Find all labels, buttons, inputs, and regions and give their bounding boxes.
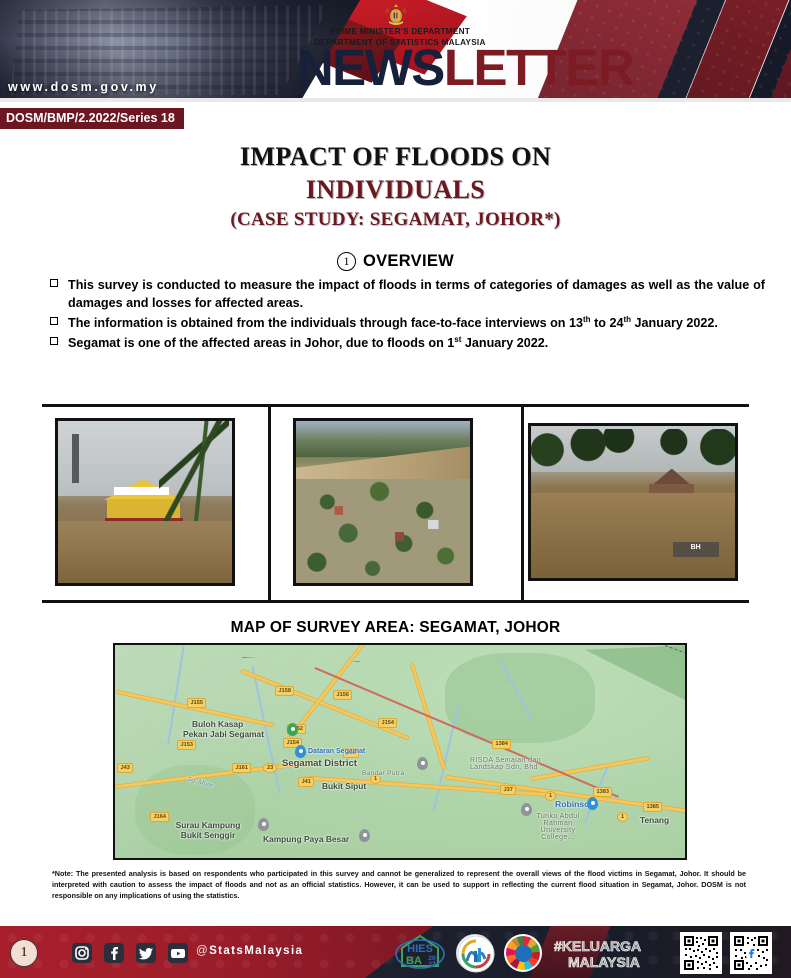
sdg-wheel-logo	[504, 934, 542, 972]
map-place-label: Dataran Segamat	[308, 748, 365, 755]
photo2-rooftops	[296, 486, 470, 580]
bullet-ordinal-2: th	[623, 315, 631, 324]
map-road-shield: 1383	[593, 787, 612, 797]
map-pin-icon[interactable]	[521, 803, 532, 816]
newsletter-wordmark: NEWSLETTER	[230, 42, 700, 93]
map-place-label: Tenang	[640, 815, 669, 825]
dosm-logo	[456, 934, 494, 972]
newsletter-word-news: NEWS	[297, 39, 444, 96]
facebook-icon[interactable]	[104, 943, 124, 963]
list-item: This survey is conducted to measure the …	[50, 276, 765, 312]
svg-text:BA: BA	[406, 955, 422, 967]
bullet-text: The information is obtained from the ind…	[68, 314, 765, 332]
overview-heading: 1 OVERVIEW	[0, 252, 791, 271]
map-place-label: Bandar Putra	[362, 770, 404, 777]
map-pin-icon[interactable]	[258, 818, 269, 831]
map-road-shield: J161	[232, 763, 251, 773]
map-pin-icon[interactable]	[417, 757, 428, 770]
flooded-stilt-house-photo	[55, 418, 235, 586]
newsletter-page: www.dosm.gov.my PRIME MINISTER'S DEPARTM…	[0, 0, 791, 978]
map-place-label: Surau Kampung Bukit Senggir	[172, 820, 244, 840]
photo1-floodwater	[58, 521, 232, 583]
bullet-text: Segamat is one of the affected areas in …	[68, 334, 765, 352]
photo-strip-top-rule	[42, 404, 749, 407]
photo1-pole	[72, 434, 79, 483]
map-road-shield: 1384	[492, 739, 511, 749]
malaysia-coat-of-arms-icon	[383, 3, 409, 27]
flooded-house-palms-photo: BH	[528, 423, 738, 581]
map-place-label: Buloh Kasap	[192, 719, 243, 729]
checkbox-bullet-icon	[50, 314, 68, 332]
list-item: Segamat is one of the affected areas in …	[50, 334, 765, 352]
map-road-shield: J43	[117, 763, 133, 773]
map-road-shield: J156	[333, 690, 352, 700]
section-number-badge: 1	[337, 252, 356, 271]
sdg-center	[515, 945, 532, 962]
photo-strip-bottom-rule	[42, 600, 749, 603]
bullet-text-mid: to 24	[591, 316, 624, 330]
keluarga-malaysia-logo: #KELUARGA MALAYSIA	[552, 936, 670, 970]
map-place-label-segamat-district: Segamat District	[282, 758, 357, 769]
overview-bullet-list: This survey is conducted to measure the …	[50, 276, 765, 354]
map-road-shield: J154	[378, 718, 397, 728]
newsletter-word-letter: LETTER	[444, 39, 633, 96]
aerial-flooded-village-photo	[293, 418, 473, 586]
instagram-icon[interactable]	[72, 943, 92, 963]
title-line-3: (CASE STUDY: SEGAMAT, JOHOR*)	[0, 209, 791, 231]
map-road-shield: J37	[500, 785, 516, 795]
page-header: www.dosm.gov.my PRIME MINISTER'S DEPARTM…	[0, 0, 791, 102]
svg-text:MALAYSIA: MALAYSIA	[568, 954, 640, 970]
svg-text:HIES: HIES	[407, 943, 433, 955]
photo-divider-2	[521, 404, 524, 603]
bullet-text: This survey is conducted to measure the …	[68, 276, 765, 312]
map-road-shield: J155	[187, 698, 206, 708]
svg-text:#KELUARGA: #KELUARGA	[554, 938, 641, 954]
segamat-survey-area-map[interactable]: J155 J158 J156 J153 J154 J152 J154 J38 J…	[113, 643, 687, 860]
photo1-foliage	[159, 421, 229, 521]
list-item: The information is obtained from the ind…	[50, 314, 765, 332]
photo3-floodwater	[531, 493, 735, 578]
photo3-watermark: BH	[673, 542, 719, 557]
bullet-ordinal-1: th	[583, 315, 591, 324]
map-road-shield: J153	[177, 740, 196, 750]
handle-at: @	[196, 945, 209, 957]
title-line-2: INDIVIDUALS	[0, 175, 791, 205]
checkbox-bullet-icon	[50, 334, 68, 352]
hies-ba-2022-logo: HIES BA 20 22	[394, 932, 446, 972]
svg-text:22: 22	[428, 961, 436, 968]
page-number: 1	[10, 939, 38, 967]
checkbox-bullet-icon	[50, 276, 68, 312]
series-badge: DOSM/BMP/2.2022/Series 18	[0, 108, 184, 129]
footnote-text: *Note: The presented analysis is based o…	[52, 868, 746, 901]
header-baseline	[0, 98, 791, 102]
page-title: IMPACT OF FLOODS ON INDIVIDUALS (CASE ST…	[0, 142, 791, 231]
map-road-shield: 1385	[643, 802, 662, 812]
map-section-title: MAP OF SURVEY AREA: SEGAMAT, JOHOR	[0, 619, 791, 637]
map-place-label: Kampung Paya Besar	[263, 834, 349, 844]
map-road-shield: J41	[298, 777, 314, 787]
qr-code-facebook[interactable]	[730, 932, 772, 974]
map-road-shield: J158	[275, 686, 294, 696]
qr-code-website[interactable]	[680, 932, 722, 974]
overview-title: OVERVIEW	[363, 252, 454, 271]
bullet-text-post: January 2022.	[461, 336, 548, 350]
map-place-label: Pekan Jabi Segamat	[183, 729, 264, 739]
map-pin-icon[interactable]	[359, 829, 370, 842]
map-road-shield: J164	[150, 812, 169, 822]
map-pin-icon[interactable]	[295, 745, 306, 758]
map-place-label: RISDA Semaian dan Landskap Sdn. Bhd	[470, 757, 562, 771]
photo-divider-1	[268, 404, 271, 603]
map-place-label: Bukit Siput	[322, 781, 366, 791]
youtube-icon[interactable]	[168, 943, 188, 963]
photo3-palm-trees	[531, 429, 735, 481]
bullet-text-pre: The information is obtained from the ind…	[68, 316, 583, 330]
bullet-text-pre: Segamat is one of the affected areas in …	[68, 336, 454, 350]
handle-name: StatsMalaysia	[209, 945, 303, 957]
twitter-icon[interactable]	[136, 943, 156, 963]
map-place-label: Tunku Abdul Rahman University College...	[528, 813, 588, 841]
bullet-text-post: January 2022.	[631, 316, 718, 330]
watermark-text: BH	[673, 542, 719, 552]
map-pin-icon[interactable]	[287, 723, 298, 736]
title-line-1: IMPACT OF FLOODS ON	[0, 142, 791, 172]
map-pin-icon[interactable]	[587, 797, 598, 810]
org-line-1: PRIME MINISTER'S DEPARTMENT	[270, 27, 530, 38]
social-handle: @StatsMalaysia	[196, 945, 303, 957]
page-footer: 1 @StatsMalaysia HIES BA 20 22	[0, 912, 791, 978]
